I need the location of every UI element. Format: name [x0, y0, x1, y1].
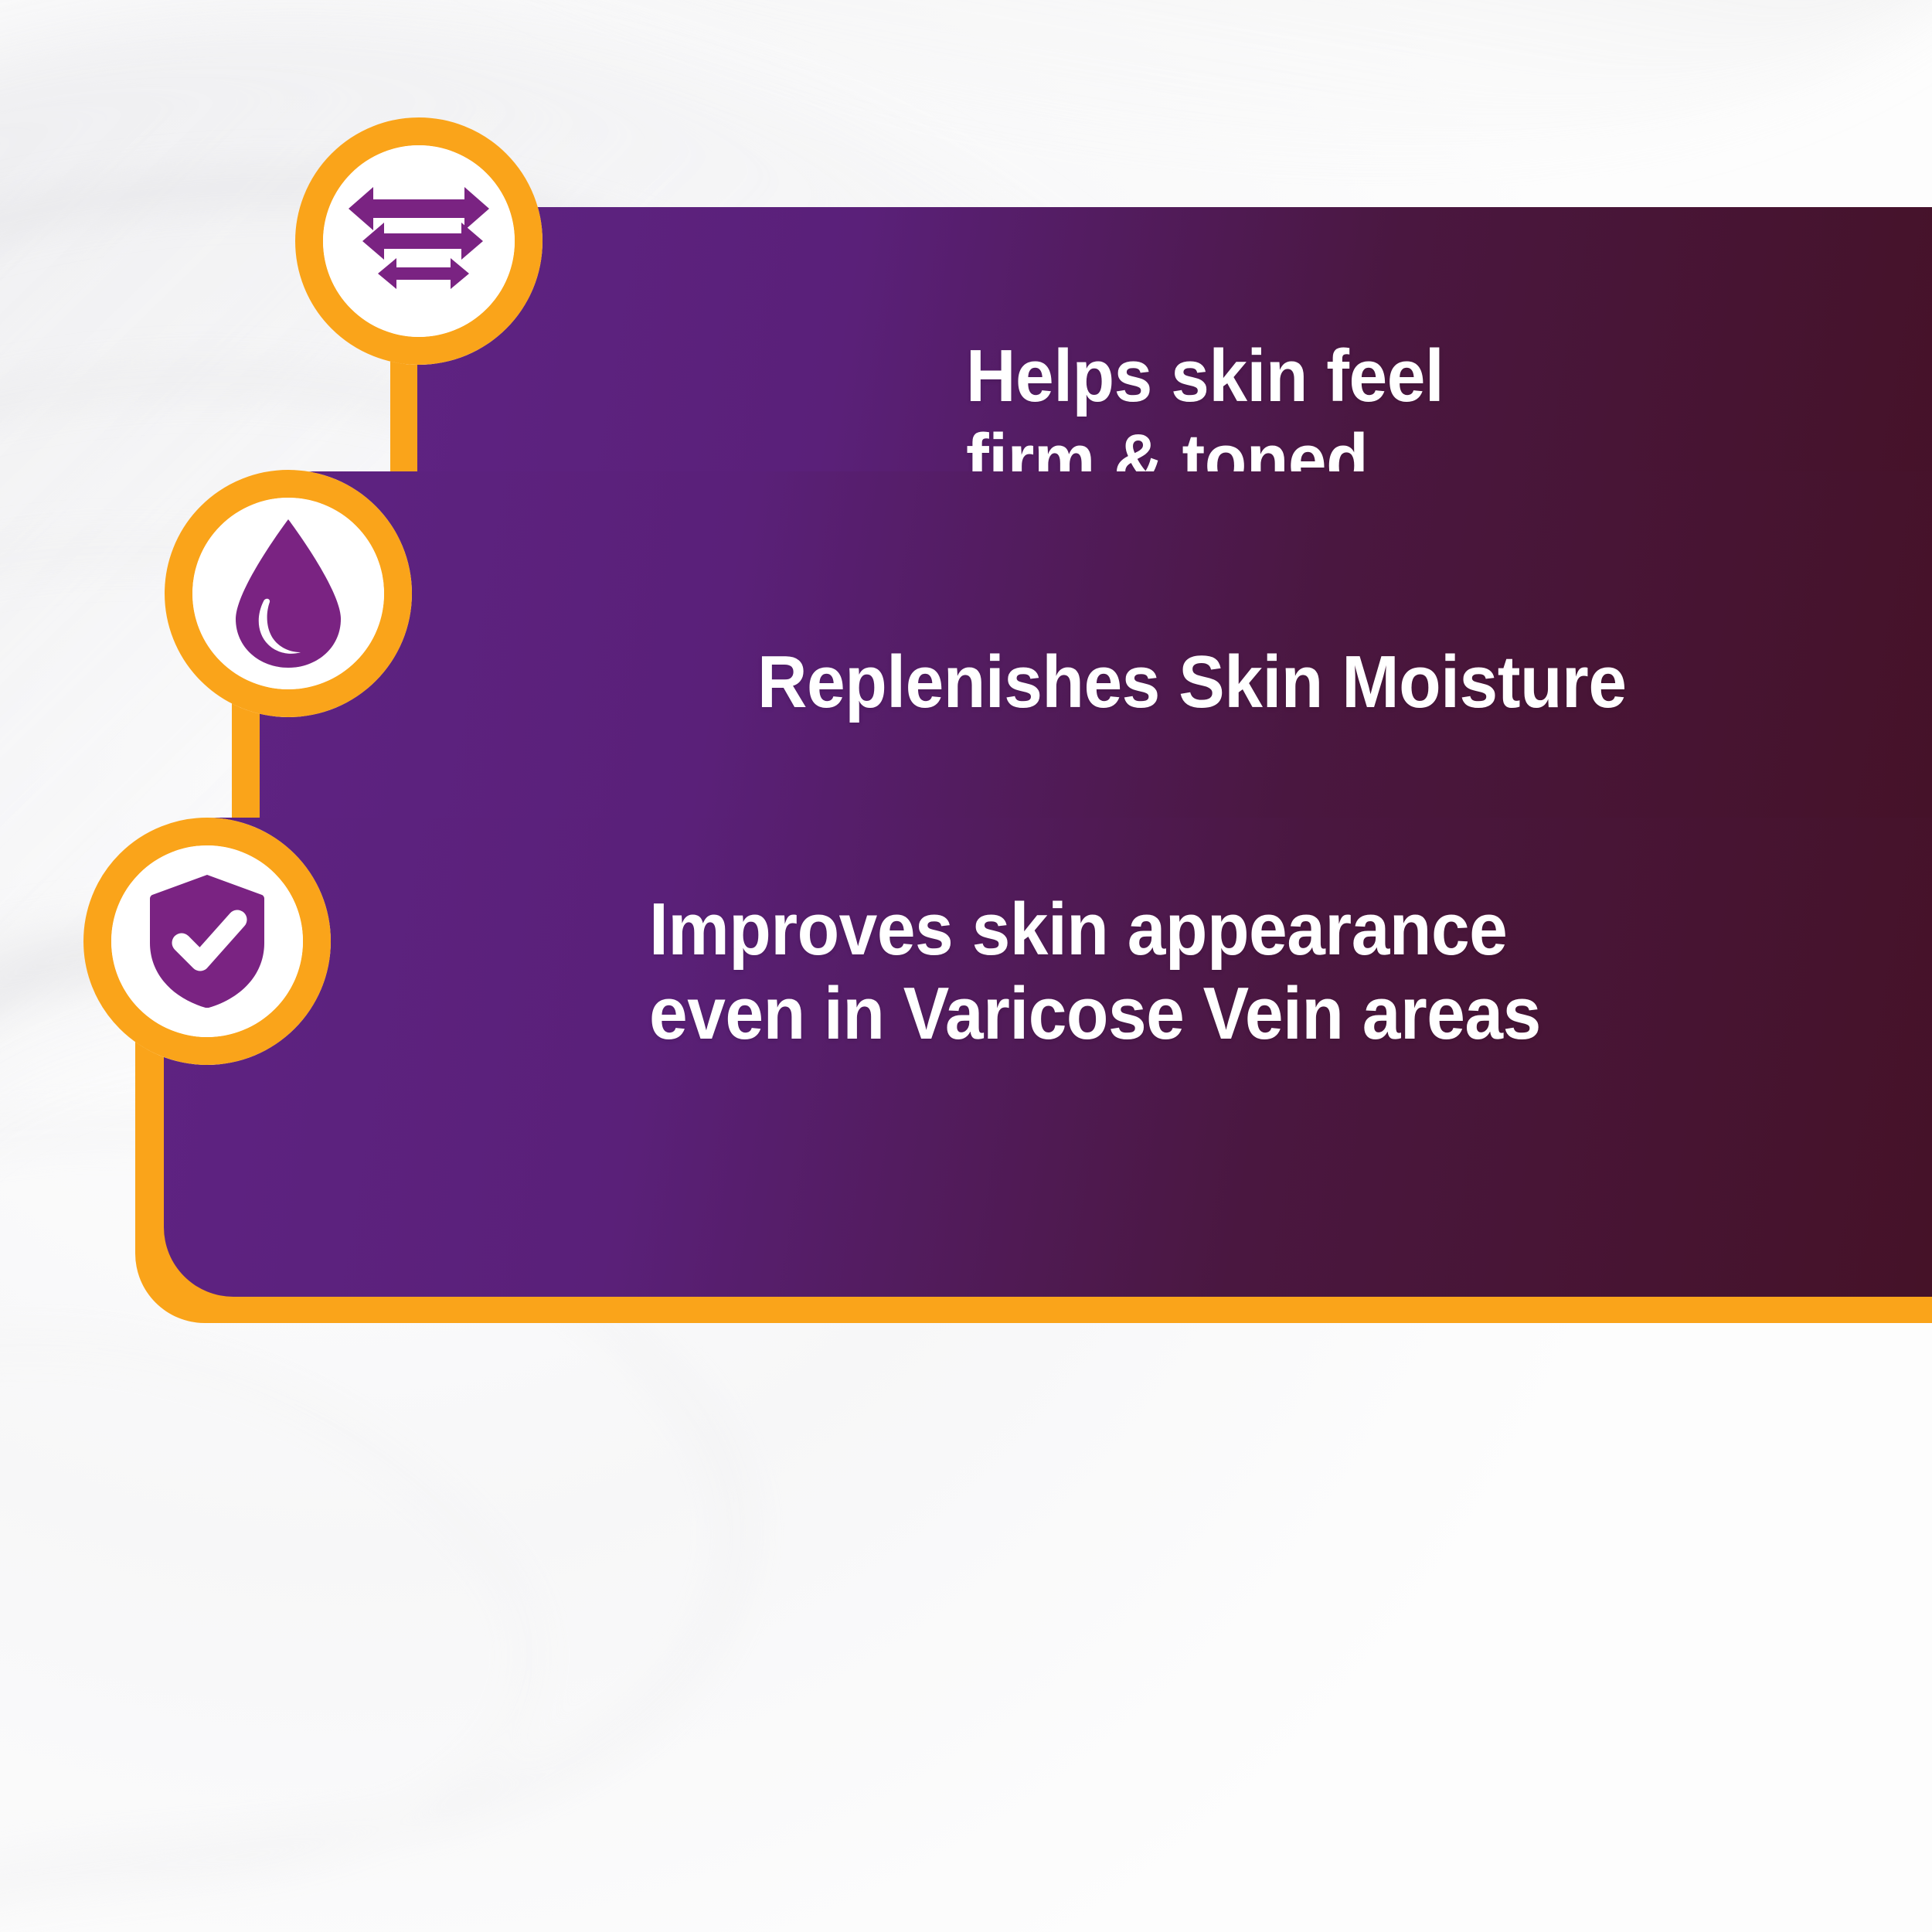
water-droplet-icon: [226, 516, 350, 671]
benefit-icon-badge[interactable]: [295, 117, 543, 365]
benefits-list: Helps skin feel firm & toned Replenishes…: [0, 0, 1932, 1932]
benefit-icon-badge[interactable]: [83, 818, 331, 1065]
benefit-label: Replenishes Skin Moisture: [757, 640, 1627, 724]
shield-check-icon: [141, 872, 273, 1011]
resize-arrows-icon: [345, 179, 492, 303]
benefit-icon-badge[interactable]: [165, 470, 412, 717]
benefit-label: Improves skin appearance even in Varicos…: [649, 887, 1541, 1056]
benefit-row[interactable]: Improves skin appearance even in Varicos…: [0, 804, 1932, 1731]
